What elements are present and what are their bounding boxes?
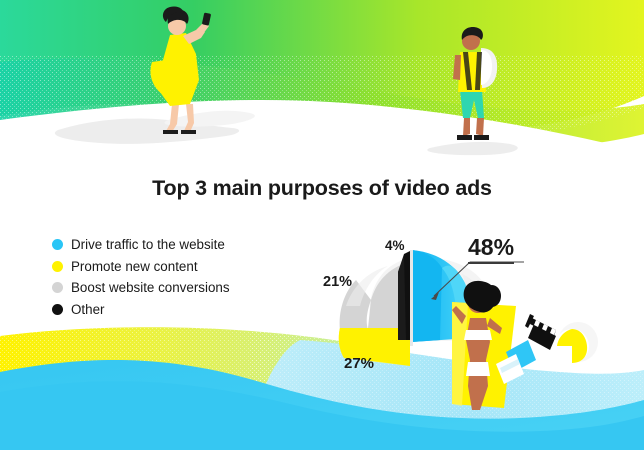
legend-label-promote-content: Promote new content (71, 260, 198, 273)
slice-label-27: 27% (344, 356, 374, 371)
legend-label-other: Other (71, 303, 105, 316)
legend-dot-gray-icon (52, 282, 63, 293)
legend-label-boost-conversions: Boost website conversions (71, 281, 230, 294)
legend-dot-yellow-icon (52, 261, 63, 272)
slice-label-48: 48% (468, 236, 514, 264)
legend-item-other[interactable]: Other (52, 299, 230, 321)
legend-item-promote-content[interactable]: Promote new content (52, 256, 230, 278)
legend-item-drive-traffic[interactable]: Drive traffic to the website (52, 234, 230, 256)
slice-label-21: 21% (323, 275, 352, 290)
infographic-canvas: Top 3 main purposes of video ads Drive t… (0, 0, 644, 450)
legend-dot-blue-icon (52, 239, 63, 250)
page-title: Top 3 main purposes of video ads (0, 176, 644, 201)
legend-dot-black-icon (52, 304, 63, 315)
legend-label-drive-traffic: Drive traffic to the website (71, 238, 225, 251)
chart-legend: Drive traffic to the website Promote new… (52, 234, 230, 320)
slice-label-4: 4% (385, 239, 405, 253)
illustration-layer (0, 0, 644, 450)
legend-item-boost-conversions[interactable]: Boost website conversions (52, 277, 230, 299)
